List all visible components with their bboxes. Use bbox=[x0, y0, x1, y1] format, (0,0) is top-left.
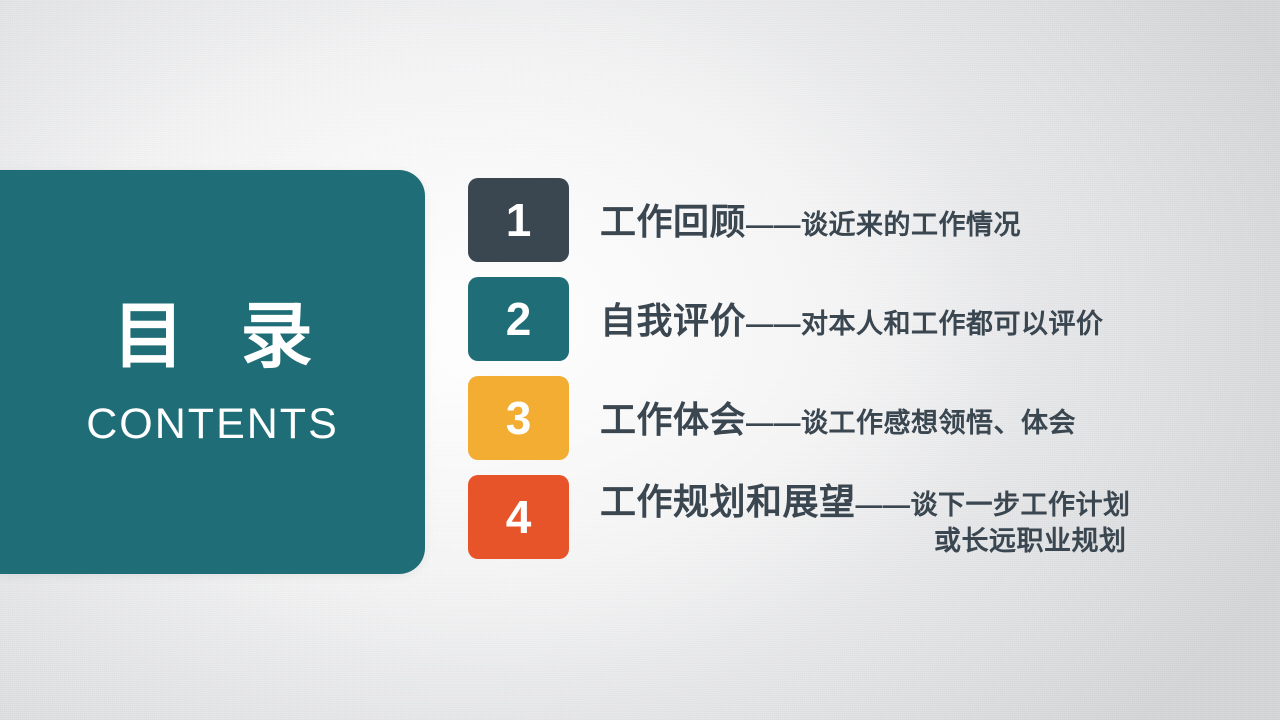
list-item[interactable]: 4 工作规划和展望——谈下一步工作计划 或长远职业规划 bbox=[468, 475, 1258, 561]
item-heading-1: 工作回顾 bbox=[600, 201, 746, 242]
page-title-en: CONTENTS bbox=[86, 403, 339, 446]
table-of-contents: 1 工作回顾——谈近来的工作情况 2 自我评价——对本人和工作都可以评价 3 工… bbox=[468, 178, 1258, 574]
item-subtitle-2: ——对本人和工作都可以评价 bbox=[746, 309, 1104, 339]
list-item[interactable]: 2 自我评价——对本人和工作都可以评价 bbox=[468, 277, 1258, 363]
page-title-cn: 目 录 bbox=[94, 298, 330, 377]
item-subtitle-4: ——谈下一步工作计划 bbox=[856, 490, 1131, 520]
item-text-2: 自我评价——对本人和工作都可以评价 bbox=[600, 277, 1104, 363]
item-heading-3: 工作体会 bbox=[600, 399, 746, 440]
item-subtitle-4-line2: 或长远职业规划 bbox=[934, 526, 1127, 556]
item-text-3: 工作体会——谈工作感想领悟、体会 bbox=[600, 376, 1076, 462]
item-heading-4: 工作规划和展望 bbox=[600, 481, 856, 522]
item-number-badge-3: 3 bbox=[468, 376, 569, 460]
item-number-badge-1: 1 bbox=[468, 178, 569, 262]
item-number-badge-4: 4 bbox=[468, 475, 569, 559]
item-subtitle-3: ——谈工作感想领悟、体会 bbox=[746, 408, 1076, 438]
item-subtitle-1: ——谈近来的工作情况 bbox=[746, 210, 1021, 240]
slide-canvas: 目 录 CONTENTS 1 工作回顾——谈近来的工作情况 2 自我评价——对本… bbox=[0, 0, 1280, 720]
item-line-3: 工作体会——谈工作感想领悟、体会 bbox=[600, 400, 1076, 440]
list-item[interactable]: 1 工作回顾——谈近来的工作情况 bbox=[468, 178, 1258, 264]
item-text-4: 工作规划和展望——谈下一步工作计划 或长远职业规划 bbox=[600, 475, 1131, 561]
list-item[interactable]: 3 工作体会——谈工作感想领悟、体会 bbox=[468, 376, 1258, 462]
item-line-4: 工作规划和展望——谈下一步工作计划 bbox=[600, 482, 1131, 522]
item-text-1: 工作回顾——谈近来的工作情况 bbox=[600, 178, 1021, 264]
item-line-4-continued: 或长远职业规划 bbox=[600, 526, 1131, 556]
item-number-badge-2: 2 bbox=[468, 277, 569, 361]
item-heading-2: 自我评价 bbox=[600, 300, 746, 341]
contents-title-panel: 目 录 CONTENTS bbox=[0, 170, 425, 574]
item-line-1: 工作回顾——谈近来的工作情况 bbox=[600, 202, 1021, 242]
item-line-2: 自我评价——对本人和工作都可以评价 bbox=[600, 301, 1104, 341]
